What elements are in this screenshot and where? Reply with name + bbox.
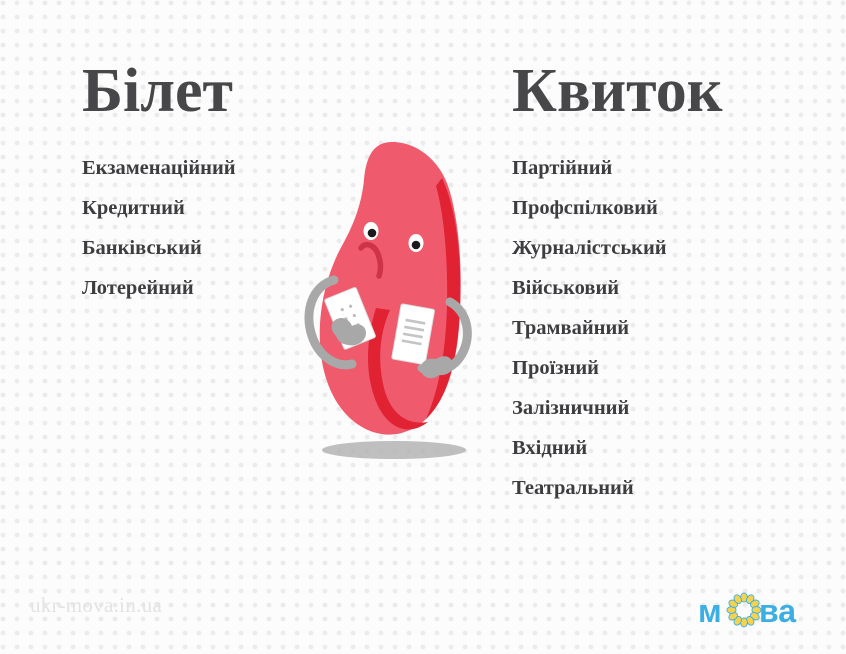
column-kvytok: Квиток Партійний Профспілковий Журналіст… — [512, 60, 832, 508]
mascot-pupil-right — [412, 241, 421, 250]
list-item: Проїзний — [512, 348, 832, 388]
mascot-illustration — [292, 130, 502, 480]
list-item: Журналістський — [512, 228, 832, 268]
column-title-bilet: Білет — [82, 60, 382, 122]
list-item: Залізничний — [512, 388, 832, 428]
column-title-kvytok: Квиток — [512, 60, 832, 122]
list-item: Театральний — [512, 468, 832, 508]
list-item: Профспілковий — [512, 188, 832, 228]
mova-logo[interactable]: м ва — [696, 586, 816, 634]
list-item: Вхідний — [512, 428, 832, 468]
logo-text-after: ва — [759, 593, 796, 629]
word-list-kvytok: Партійний Профспілковий Журналістський В… — [512, 148, 832, 508]
logo-text-before: м — [698, 593, 722, 629]
mascot-pupil-left — [368, 229, 377, 238]
list-item: Партійний — [512, 148, 832, 188]
poster-background: Білет Екзаменаційний Кредитний Банківськ… — [0, 0, 846, 654]
site-watermark: ukr-mova.in.ua — [30, 593, 162, 618]
wreath-icon — [727, 593, 761, 627]
list-item: Військовий — [512, 268, 832, 308]
mascot-shadow — [322, 441, 466, 459]
list-item: Трамвайний — [512, 308, 832, 348]
